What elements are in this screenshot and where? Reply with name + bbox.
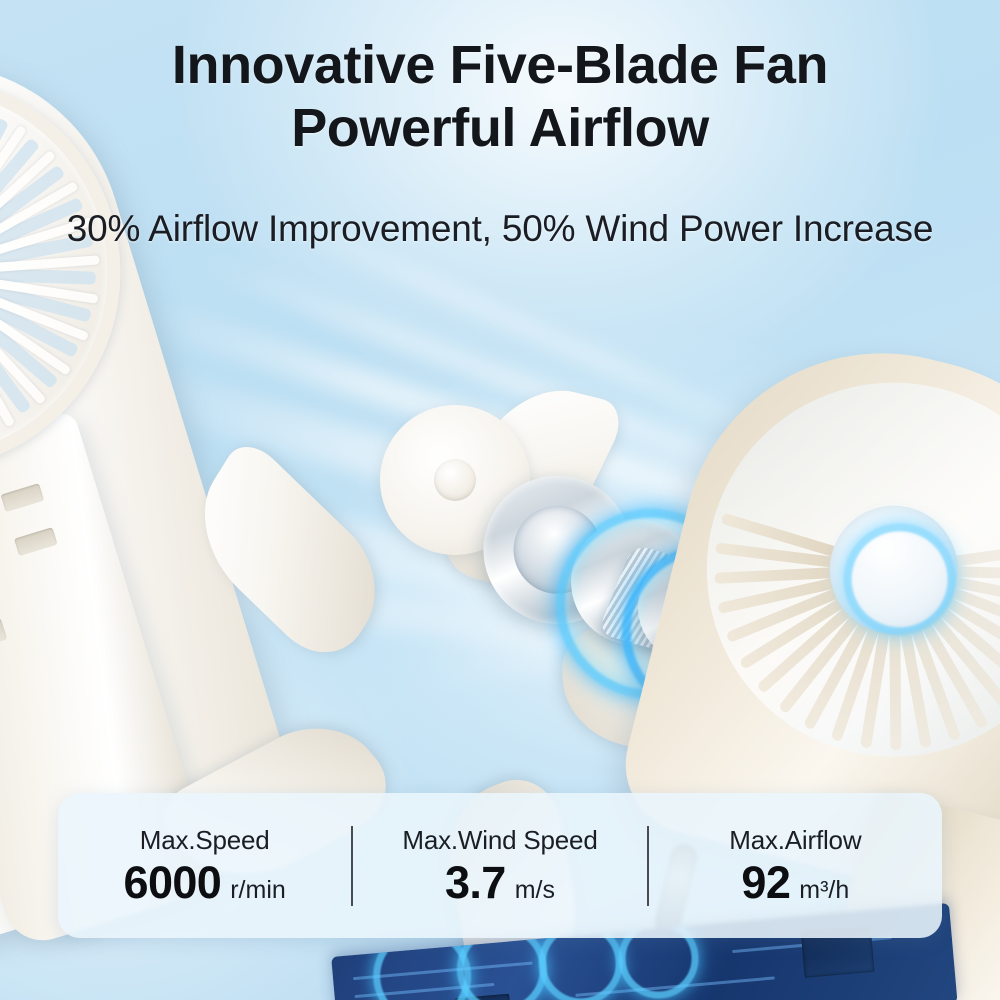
stat-value: 92 xyxy=(741,860,790,905)
stat-value-row: 3.7 m/s xyxy=(353,860,646,905)
stat-max-speed: Max.Speed 6000 r/min xyxy=(58,826,351,905)
product-marketing-image: FA49 xyxy=(0,0,1000,1000)
vent-slot xyxy=(14,527,58,556)
fan-blade-center-boss xyxy=(434,459,476,501)
vent-slot xyxy=(1,483,45,512)
vent-slot xyxy=(0,618,7,655)
stat-label: Max.Airflow xyxy=(649,826,942,855)
page-subtitle: 30% Airflow Improvement, 50% Wind Power … xyxy=(0,208,1000,250)
specs-card: Max.Speed 6000 r/min Max.Wind Speed 3.7 … xyxy=(58,793,942,938)
stat-value-row: 6000 r/min xyxy=(58,860,351,905)
stat-value: 3.7 xyxy=(445,860,506,905)
stat-max-wind-speed: Max.Wind Speed 3.7 m/s xyxy=(353,826,646,905)
stat-unit: m³/h xyxy=(799,878,849,903)
stat-label: Max.Wind Speed xyxy=(353,826,646,855)
page-title: Innovative Five-Blade Fan Powerful Airfl… xyxy=(0,34,1000,159)
stat-value-row: 92 m³/h xyxy=(649,860,942,905)
stat-unit: r/min xyxy=(230,878,286,903)
stat-label: Max.Speed xyxy=(58,826,351,855)
stat-max-airflow: Max.Airflow 92 m³/h xyxy=(649,826,942,905)
stat-unit: m/s xyxy=(515,878,555,903)
stat-value: 6000 xyxy=(124,860,222,905)
